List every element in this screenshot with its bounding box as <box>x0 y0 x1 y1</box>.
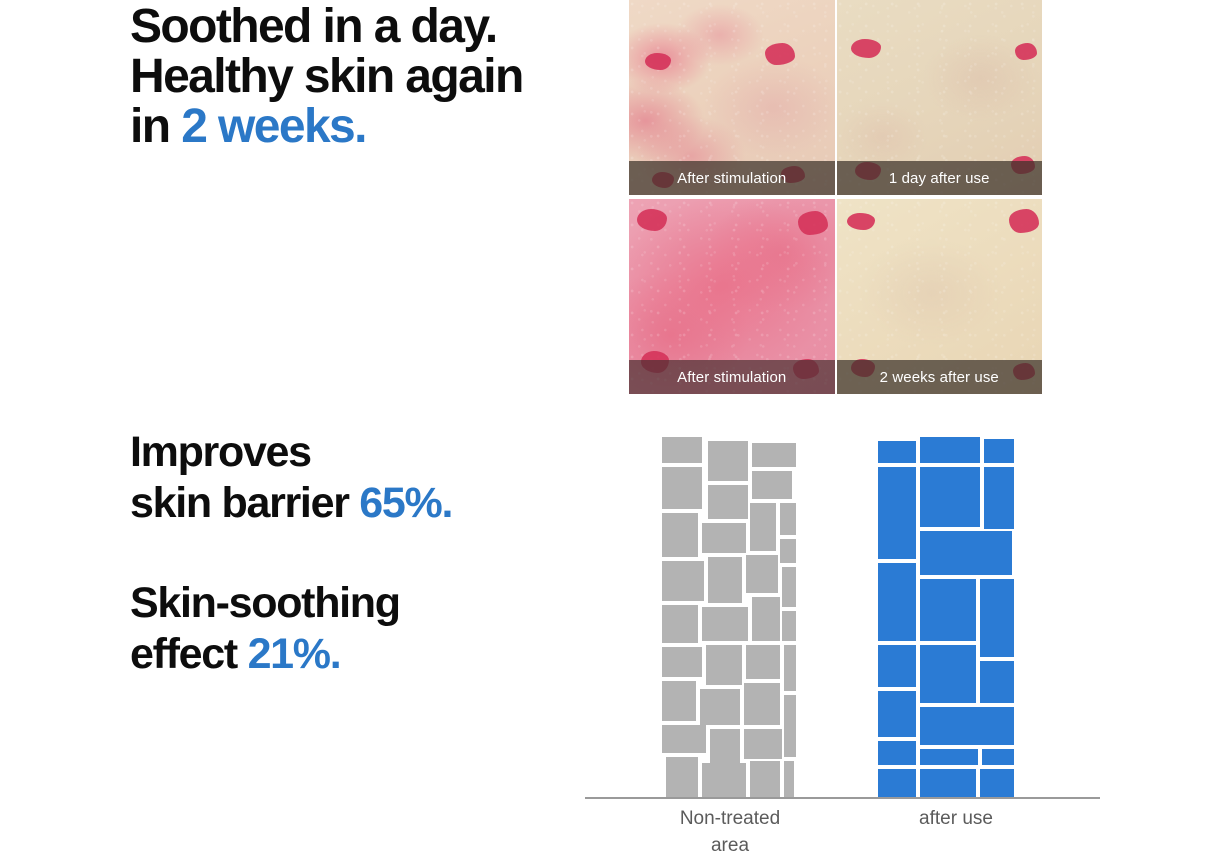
claim-skin-soothing: Skin-soothing effect 21%. <box>130 578 610 679</box>
photo-cell-after-stimulation-bottom: After stimulation <box>629 199 835 394</box>
photo-caption: 1 day after use <box>837 161 1043 195</box>
claim-soothing-metric: 21%. <box>248 630 341 678</box>
blemish-spot <box>1009 209 1039 233</box>
headline-accent-2-weeks: 2 weeks. <box>181 100 366 153</box>
skin-photo-comparison-grid: After stimulation 1 day after use Aft <box>629 0 1042 394</box>
blemish-spot <box>851 39 881 58</box>
claim-barrier-line-1: Improves <box>130 427 610 478</box>
chart-baseline-axis <box>585 797 1100 799</box>
chart-label-line-1: after use <box>856 806 1056 833</box>
chart-label-line-2: area <box>630 833 830 853</box>
blemish-spot <box>765 43 795 65</box>
bar-after-use <box>876 437 1014 797</box>
blemish-spot <box>847 213 875 230</box>
claim-barrier-prefix: skin barrier <box>130 479 359 527</box>
headline-line-2: Healthy skin again <box>130 52 610 102</box>
photo-cell-2-weeks-after-use: 2 weeks after use <box>837 199 1043 394</box>
claim-soothing-prefix: effect <box>130 630 248 678</box>
photo-caption: After stimulation <box>629 161 835 195</box>
claim-barrier-line-2: skin barrier 65%. <box>130 478 610 529</box>
claim-barrier-metric: 65%. <box>359 479 452 527</box>
headline-line-3-prefix: in <box>130 100 181 153</box>
chart-label-line-1: Non-treated <box>630 806 830 833</box>
chart-label-non-treated-area: Non-treated area <box>630 806 830 853</box>
infographic-page: Soothed in a day. Healthy skin again in … <box>0 0 1214 853</box>
claim-skin-barrier: Improves skin barrier 65%. <box>130 427 610 528</box>
photo-cell-1-day-after-use: 1 day after use <box>837 0 1043 195</box>
claim-soothing-line-1: Skin-soothing <box>130 578 610 629</box>
page-headline: Soothed in a day. Healthy skin again in … <box>130 2 610 152</box>
photo-caption: After stimulation <box>629 360 835 394</box>
blemish-spot <box>637 209 667 231</box>
blemish-spot <box>1015 43 1037 60</box>
blemish-spot <box>645 53 671 70</box>
headline-line-3: in 2 weeks. <box>130 102 610 152</box>
skin-barrier-bar-chart: Non-treated area after use <box>560 420 1120 850</box>
photo-row-week-2: After stimulation 2 weeks after use <box>629 199 1042 394</box>
blemish-spot <box>798 211 828 235</box>
photo-caption: 2 weeks after use <box>837 360 1043 394</box>
headline-line-1: Soothed in a day. <box>130 2 610 52</box>
bar-non-treated-area <box>660 437 798 797</box>
photo-row-day-1: After stimulation 1 day after use <box>629 0 1042 195</box>
chart-label-after-use: after use <box>856 806 1056 833</box>
photo-cell-after-stimulation-top: After stimulation <box>629 0 835 195</box>
claim-soothing-line-2: effect 21%. <box>130 629 610 680</box>
